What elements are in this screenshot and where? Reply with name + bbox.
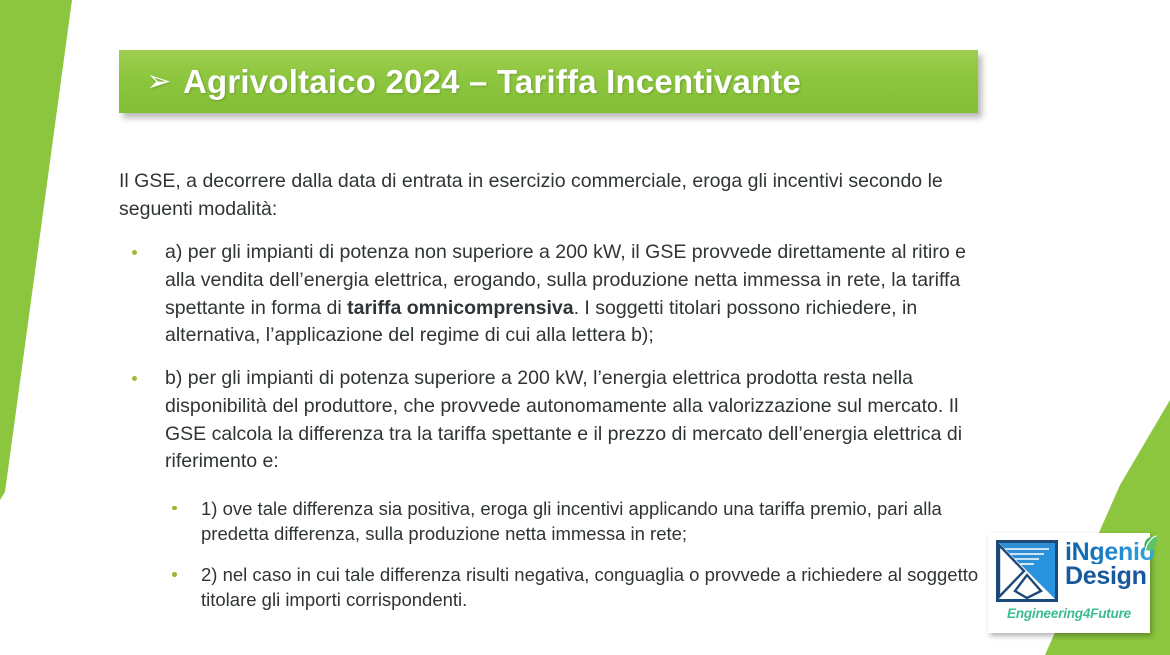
list-item: 1) ove tale differenza sia positiva, ero… (157, 496, 999, 546)
logo-wordmark: iNgenio Design (1065, 540, 1155, 588)
ingenio-square-mark-icon (996, 540, 1058, 602)
logo-tagline: Engineering4Future (996, 606, 1142, 621)
list-item: a) per gli impianti di potenza non super… (119, 239, 999, 350)
logo-top-row: iNgenio Design (996, 540, 1142, 602)
sub-list-item-text: 1) ove tale differenza sia positiva, ero… (201, 498, 942, 544)
logo-name-secondary: Design (1065, 565, 1155, 588)
bullet-dot-icon (132, 250, 137, 255)
list-item-emphasis: tariffa omnicomprensiva (347, 297, 573, 319)
sub-list: 1) ove tale differenza sia positiva, ero… (157, 496, 999, 613)
page-title: Agrivoltaico 2024 – Tariffa Incentivante (183, 63, 801, 101)
bullet-dot-icon (132, 376, 137, 381)
list-item: b) per gli impianti di potenza superiore… (119, 365, 999, 476)
list-item: 2) nel caso in cui tale differenza risul… (157, 562, 999, 612)
leaf-icon (1142, 534, 1159, 553)
slide-title-banner: ➢ Agrivoltaico 2024 – Tariffa Incentivan… (119, 50, 978, 113)
arrow-right-icon: ➢ (135, 67, 183, 97)
slide-body: Il GSE, a decorrere dalla data di entrat… (119, 168, 999, 629)
intro-paragraph: Il GSE, a decorrere dalla data di entrat… (119, 168, 999, 223)
sub-list-item-text: 2) nel caso in cui tale differenza risul… (201, 564, 978, 610)
decoration-left-green-wedge (0, 0, 130, 500)
list-item-text-before: b) per gli impianti di potenza superiore… (165, 367, 962, 472)
bullet-dot-icon (172, 506, 177, 511)
bullet-dot-icon (172, 572, 177, 577)
company-logo: iNgenio Design Engineering4Future (988, 533, 1150, 633)
slide-canvas: ➢ Agrivoltaico 2024 – Tariffa Incentivan… (0, 0, 1170, 655)
